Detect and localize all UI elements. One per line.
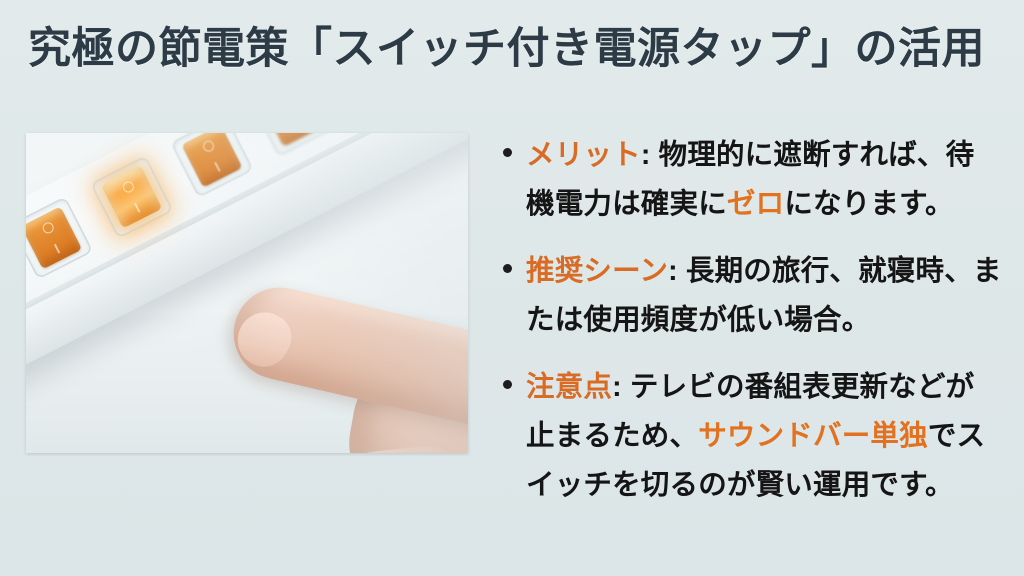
power-strip-switch-photo xyxy=(26,133,468,453)
page-title: 究極の節電策「スイッチ付き電源タップ」の活用 xyxy=(28,22,1012,77)
bullet-dot-icon xyxy=(503,148,512,157)
list-item: メリット: 物理的に遮断すれば、待機電力は確実にゼロになります。 xyxy=(503,131,1003,229)
list-item: 推奨シーン: 長期の旅行、就寝時、または使用頻度が低い場合。 xyxy=(503,247,1003,345)
bullet-dot-icon xyxy=(503,264,512,273)
rocker-switch-lens xyxy=(101,166,162,229)
list-item-text: メリット: 物理的に遮断すれば、待機電力は確実にゼロになります。 xyxy=(526,131,1003,229)
list-item: 注意点: テレビの番組表更新などが止まるため、サウンドバー単独でスイッチを切るの… xyxy=(503,363,1003,510)
bullet-list: メリット: 物理的に遮断すれば、待機電力は確実にゼロになります。 推奨シーン: … xyxy=(503,131,1003,510)
list-item-separator: : xyxy=(612,371,630,403)
list-item-segment: になります。 xyxy=(784,188,953,220)
list-item-lead: メリット xyxy=(526,139,641,171)
list-item-text: 注意点: テレビの番組表更新などが止まるため、サウンドバー単独でスイッチを切るの… xyxy=(526,363,1003,510)
list-item-highlight: サウンドバー単独 xyxy=(698,420,928,452)
rocker-switch-lens xyxy=(26,207,82,270)
list-item-lead: 注意点 xyxy=(526,371,612,403)
list-item-separator: : xyxy=(641,139,659,171)
bullet-dot-icon xyxy=(503,380,512,389)
photo-tabletop xyxy=(26,363,468,453)
photo-scene xyxy=(26,133,468,453)
list-item-text: 推奨シーン: 長期の旅行、就寝時、または使用頻度が低い場合。 xyxy=(526,247,1003,345)
rocker-switch-lens xyxy=(181,133,242,188)
list-item-highlight: ゼロ xyxy=(727,188,784,220)
list-item-separator: : xyxy=(668,255,686,287)
slide-canvas: 究極の節電策「スイッチ付き電源タップ」の活用 xyxy=(0,0,1024,576)
list-item-lead: 推奨シーン xyxy=(526,255,668,287)
